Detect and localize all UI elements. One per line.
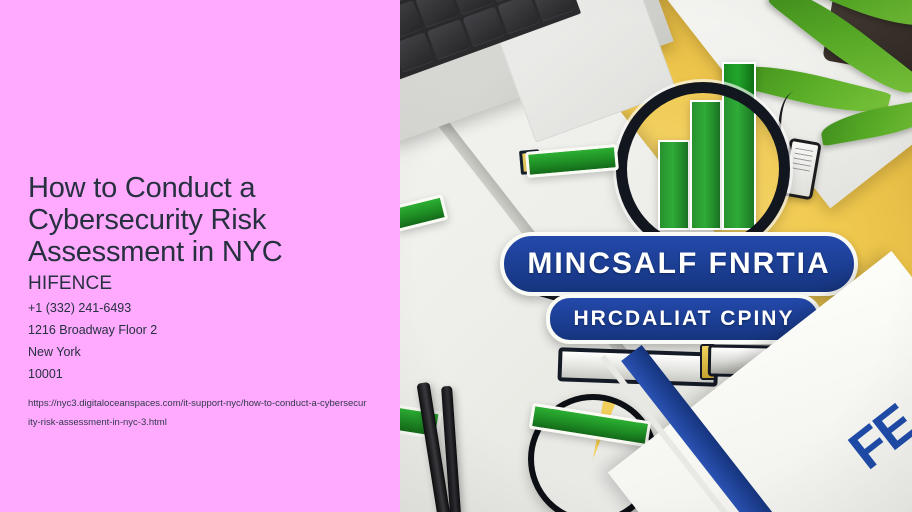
text-content-block: How to Conduct a Cybersecurity Risk Asse… [28, 172, 373, 432]
blue-label-pill-primary: MINCSALF FNRTIA [500, 232, 858, 296]
left-info-panel: How to Conduct a Cybersecurity Risk Asse… [0, 0, 400, 512]
magnifying-glass-icon [616, 82, 790, 256]
contact-zip: 10001 [28, 364, 373, 384]
keyboard-key [497, 0, 540, 35]
contact-city: New York [28, 342, 373, 362]
keyboard-key [462, 7, 505, 48]
slide-canvas: How to Conduct a Cybersecurity Risk Asse… [0, 0, 912, 512]
contact-phone: +1 (332) 241-6493 [28, 298, 373, 318]
page-title: How to Conduct a Cybersecurity Risk Asse… [28, 172, 373, 268]
device-detail-lines [792, 148, 814, 173]
brand-name: HIFENCE [28, 272, 373, 296]
keyboard-key [427, 20, 470, 61]
source-url: https://nyc3.digitaloceanspaces.com/it-s… [28, 394, 368, 432]
contact-street-address: 1216 Broadway Floor 2 [28, 320, 373, 340]
photo-illustration-panel: MINCSALF FNRTIA HRCDALIAT CPINY FE [400, 0, 912, 512]
